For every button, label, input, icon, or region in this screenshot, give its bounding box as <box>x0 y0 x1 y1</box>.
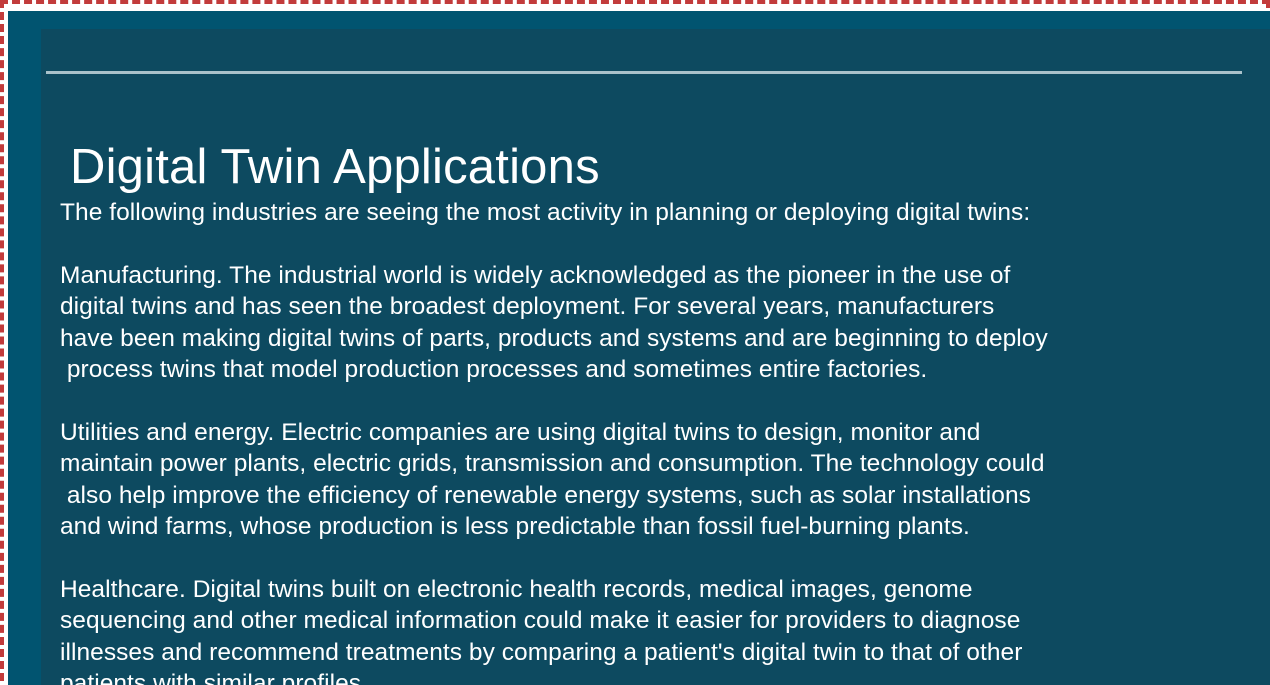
slide-canvas: Digital Twin Applications The following … <box>8 11 1270 685</box>
slide-content-panel: Digital Twin Applications The following … <box>41 29 1270 685</box>
intro-paragraph: The following industries are seeing the … <box>60 197 1260 229</box>
paragraph-spacer <box>60 229 1260 260</box>
paragraph-healthcare: Healthcare. Digital twins built on elect… <box>60 574 1260 685</box>
paragraph-spacer <box>60 386 1260 417</box>
paragraph-utilities-and-energy: Utilities and energy. Electric companies… <box>60 417 1260 543</box>
paragraph-spacer <box>60 543 1260 574</box>
header-divider <box>46 71 1242 74</box>
slide-selection-frame: Digital Twin Applications The following … <box>0 0 1270 681</box>
slide-body: The following industries are seeing the … <box>60 197 1260 685</box>
paragraph-manufacturing: Manufacturing. The industrial world is w… <box>60 260 1260 386</box>
page-title: Digital Twin Applications <box>70 142 600 193</box>
